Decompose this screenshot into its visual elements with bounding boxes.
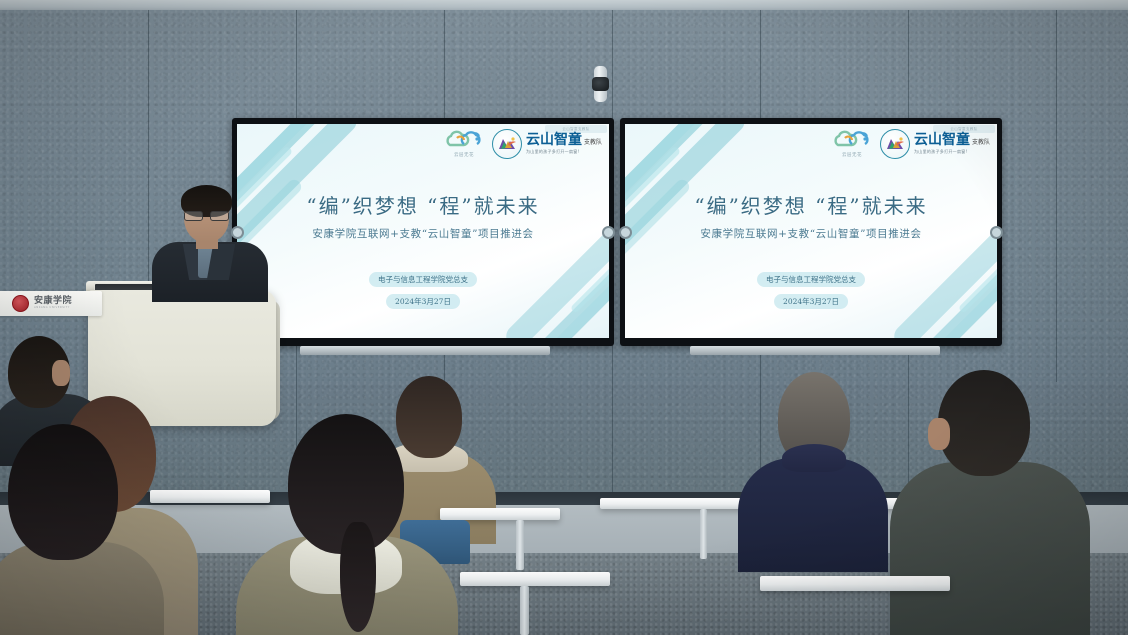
display-bezel-control[interactable]: [990, 226, 1003, 239]
slide-logo-row: 云层无花: [832, 129, 990, 159]
attendee-ear: [928, 418, 950, 450]
yunshan-tagline: 为山里的孩子多打开一扇窗!: [526, 149, 602, 155]
left-display[interactable]: 云山智童支教队 云层无花: [232, 118, 614, 346]
attendee-torso: [890, 462, 1090, 635]
attendee-dark-hair-left: [0, 424, 164, 635]
yunshan-wordmark: 云山智童 支教队 为山里的孩子多打开一扇窗!: [526, 133, 602, 155]
attendee-ponytail-center: [236, 414, 458, 635]
cloud-flower-logo: 云层无花: [832, 130, 872, 158]
right-display[interactable]: 云山智童支教队 云层无花: [620, 118, 1002, 346]
attendee-torso: [738, 458, 888, 572]
university-name-cn: 安康学院: [34, 297, 72, 306]
display-bezel-control[interactable]: [619, 226, 632, 239]
yunshan-wordmark-top: 云山智童 支教队: [914, 133, 990, 147]
glasses-icon: [184, 211, 229, 219]
desk-front-right: [760, 576, 950, 591]
security-camera-icon: [592, 66, 609, 102]
desk-leg: [516, 520, 524, 570]
attendee-hair: [8, 424, 118, 560]
yunshan-wordmark: 云山智童 支教队 为山里的孩子多打开一扇窗!: [914, 133, 990, 155]
attendee-ear: [52, 360, 70, 386]
yunshan-name: 云山智童: [526, 133, 582, 147]
desk-leg: [520, 586, 529, 635]
university-banner: 安康学院 ANKANG UNIVERSITY: [0, 291, 102, 316]
right-display-stand: [690, 346, 940, 355]
cloud-heart-icon: [444, 130, 484, 151]
slide-date: 2024年3月27日: [386, 294, 460, 309]
attendee-hair: [938, 370, 1030, 476]
display-bezel-control[interactable]: [602, 226, 615, 239]
presentation-slide: 云山智童支教队 云层无花: [237, 124, 609, 338]
attendee-grey-jacket-man: [890, 370, 1090, 635]
yunshan-badge-icon: [492, 129, 522, 159]
university-seal-icon: [12, 295, 29, 312]
attendee-ponytail: [340, 522, 376, 632]
slide-date: 2024年3月27日: [774, 294, 848, 309]
slide-organization: 电子与信息工程学院党总支: [757, 272, 865, 287]
cloud-flower-logo-text: 云层无花: [842, 152, 862, 158]
presentation-slide: 云山智童支教队 云层无花: [625, 124, 997, 338]
slide-subtitle: 安康学院互联网+支教“云山智童”项目推进会: [625, 226, 997, 241]
yunshan-wordmark-top: 云山智童 支教队: [526, 133, 602, 147]
university-name-en: ANKANG UNIVERSITY: [34, 307, 72, 310]
camera-lens: [592, 77, 609, 91]
yunshan-badge-icon: [880, 129, 910, 159]
yunshan-tagline: 为山里的孩子多打开一扇窗!: [914, 149, 990, 155]
cloud-flower-logo-text: 云层无花: [454, 152, 474, 158]
slide-title: “编”织梦想 “程”就未来: [625, 190, 997, 219]
slide-title: “编”织梦想 “程”就未来: [237, 190, 609, 219]
yunshan-logo: 云山智童 支教队 为山里的孩子多打开一扇窗!: [492, 129, 602, 159]
cloud-heart-icon: [832, 130, 872, 151]
yunshan-team-label: 支教队: [972, 137, 990, 146]
right-display-screen: 云山智童支教队 云层无花: [625, 124, 997, 338]
attendee-collar: [782, 444, 846, 472]
desk-front-center: [460, 572, 610, 586]
slide-organization: 电子与信息工程学院党总支: [369, 272, 477, 287]
wall-seam: [1056, 10, 1057, 382]
attendee-navy-blazer-woman: [738, 372, 888, 572]
cloud-flower-logo: 云层无花: [444, 130, 484, 158]
slide-logo-row: 云层无花: [444, 129, 602, 159]
left-display-screen: 云山智童支教队 云层无花: [237, 124, 609, 338]
yunshan-team-label: 支教队: [584, 137, 602, 146]
left-display-stand: [300, 346, 550, 355]
desk-leg: [700, 509, 707, 559]
desk-front-left: [150, 490, 270, 503]
presentation-room-photo: 云山智童支教队 云层无花: [0, 0, 1128, 635]
university-banner-text: 安康学院 ANKANG UNIVERSITY: [34, 297, 72, 310]
slide-subtitle: 安康学院互联网+支教“云山智童”项目推进会: [237, 226, 609, 241]
yunshan-name: 云山智童: [914, 133, 970, 147]
yunshan-logo: 云山智童 支教队 为山里的孩子多打开一扇窗!: [880, 129, 990, 159]
desk-row-middle: [440, 508, 560, 520]
presenter: [152, 188, 268, 298]
